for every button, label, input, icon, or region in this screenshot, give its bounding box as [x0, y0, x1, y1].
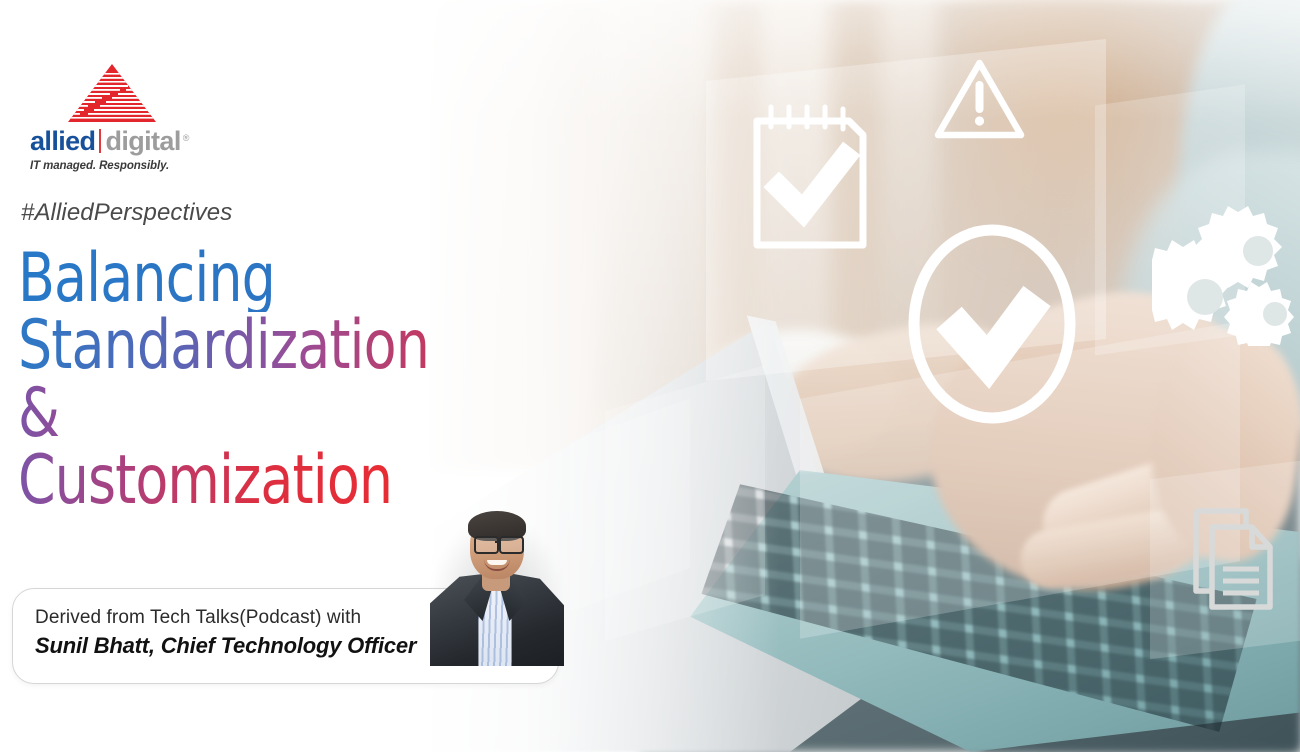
campaign-hashtag: #AlliedPerspectives [21, 199, 232, 227]
caption-line-1: Derived from Tech Talks(Podcast) with [35, 607, 361, 629]
logo-text-digital: digital [105, 128, 180, 155]
headline-line-2: Standardization [18, 312, 432, 379]
gears-icon [1152, 196, 1300, 351]
poster-canvas: allied digital ® IT managed. Responsibly… [0, 0, 1300, 752]
brand-logo[interactable]: allied digital ® IT managed. Responsibly… [30, 62, 205, 172]
portrait-glasses-left-lens [474, 536, 499, 554]
logo-text-allied: allied [30, 128, 95, 155]
copy-documents-icon [1190, 505, 1282, 620]
logo-wordmark: allied digital ® [30, 128, 205, 155]
circle-check-icon [905, 222, 1080, 432]
logo-divider [99, 129, 101, 153]
portrait-glasses-bridge [495, 541, 500, 543]
speaker-portrait [424, 503, 570, 666]
triangle-mark-icon [66, 62, 158, 124]
caption-line-2: Sunil Bhatt, Chief Technology Officer [35, 633, 416, 659]
registered-mark: ® [183, 134, 190, 143]
brand-tagline: IT managed. Responsibly. [30, 160, 205, 172]
warning-triangle-icon [932, 55, 1027, 148]
portrait-glasses-right-lens [499, 536, 524, 554]
headline-line-3: & Customization [18, 380, 432, 515]
headline-line-1: Balancing [18, 245, 432, 312]
headline: Balancing Standardization & Customizatio… [18, 245, 488, 514]
